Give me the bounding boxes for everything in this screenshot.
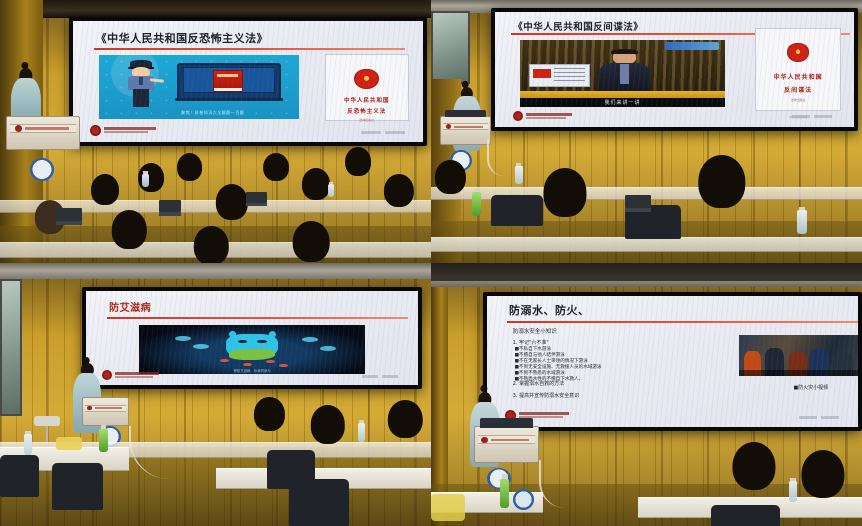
projector	[34, 416, 60, 427]
book-title-line1: 中华人民共和国	[774, 72, 823, 81]
audience-head	[733, 442, 776, 490]
slogan-part-1	[361, 131, 381, 134]
beverage-bottle	[500, 479, 509, 508]
slogan-part-2	[382, 375, 398, 378]
bullet-list: ■不私自下水游泳 ■不擅自与他人结伴游泳 ■不在无家长人士带领的情况下游泳 ■不…	[515, 347, 602, 384]
beverage-bottle	[472, 192, 481, 216]
university-seal-icon	[102, 370, 112, 380]
slide-surface: 防艾滋病	[86, 291, 418, 386]
book-subtitle: 法律出版社	[791, 98, 806, 102]
list-section-1: 1. 牢记"六不准"	[513, 339, 549, 346]
slide-video-frame: 我们来讲一讲	[520, 40, 724, 107]
book-cover-card: 中华人民共和国 反间谍法 法律出版社 中国法制出版社	[755, 28, 841, 111]
university-name-cn	[104, 127, 156, 130]
university-name-en	[115, 376, 153, 378]
video-label: ■防火灾小视频	[794, 384, 829, 391]
student-laptop	[56, 208, 82, 221]
slide-title: 防溺水、防火、	[509, 302, 590, 318]
red-cell	[266, 360, 275, 363]
insert-card-text-lines	[554, 68, 585, 81]
audience-head	[384, 174, 414, 208]
university-name-cn	[519, 412, 569, 415]
red-cell	[243, 363, 252, 366]
video-speaker-head	[613, 50, 636, 63]
wall-crest-emblem	[30, 158, 54, 182]
yellow-bag	[56, 437, 82, 450]
bottle-cap	[143, 171, 147, 173]
collage-panel-bottom-right: 防溺水、防火、 防溺水安全小知识 1. 牢记"六不准" ■不私自下水游泳 ■不擅…	[431, 263, 862, 526]
slide-footer-slogan	[792, 115, 832, 118]
national-emblem-icon	[787, 43, 810, 62]
university-name-cn	[526, 113, 572, 116]
red-cell	[279, 364, 288, 367]
university-name-en	[526, 117, 566, 119]
led-screen: 《中华人民共和国反间谍法》 我们来讲一讲	[491, 8, 857, 132]
slide-title: 《中华人民共和国反间谍法》	[513, 19, 643, 33]
slogan-part-2	[821, 416, 839, 419]
officer-tie	[139, 77, 142, 86]
thumbnail-caption-bar	[739, 370, 858, 376]
audience-head	[543, 168, 586, 216]
university-name-block	[104, 127, 156, 133]
podium	[440, 116, 492, 145]
photo-collage: 《中华人民共和国反恐怖主义法》	[0, 0, 862, 526]
room-window	[0, 279, 22, 416]
list-section-3: 3. 提高并宣传防溺水安全意识	[513, 392, 579, 399]
audience-head	[263, 153, 289, 182]
slide-footer-slogan	[362, 375, 398, 378]
book-cover-card: 中华人民共和国 反恐怖主义法 法律出版社 中国法制出版社	[325, 54, 409, 122]
podium-seal-icon	[481, 437, 487, 443]
podium-name-text	[491, 439, 529, 442]
university-name-block	[115, 372, 159, 378]
title-underline	[507, 321, 858, 323]
bottle-cap	[799, 207, 805, 211]
germ-particle	[302, 337, 318, 342]
desk-row-front	[431, 237, 862, 253]
audience-head	[435, 160, 465, 194]
podium-name-text	[95, 407, 122, 409]
podium-seal-icon	[87, 406, 92, 411]
list-item: ■不在无家长人士带领的情况下游泳	[515, 359, 602, 365]
student-laptop	[246, 192, 268, 203]
slide-footer-slogan	[799, 416, 839, 419]
audience-head	[302, 168, 330, 199]
water-bottle	[142, 174, 149, 187]
podium-laptop	[445, 110, 487, 118]
slide-subhead: 防溺水安全小知识	[513, 327, 557, 335]
ceiling	[0, 263, 431, 279]
national-emblem-icon	[354, 69, 379, 89]
bottle-cap	[516, 163, 521, 166]
podium-name-text	[454, 126, 484, 128]
slogan-part-2	[814, 115, 832, 118]
germ-particle	[175, 336, 191, 341]
bottle-cap	[474, 188, 480, 192]
title-underline	[107, 317, 408, 319]
laptop-base	[175, 98, 283, 101]
chair	[711, 505, 780, 526]
audience-head	[802, 450, 845, 498]
list-item: ■不到无安全设施、无救援人员的水域游泳	[515, 365, 602, 371]
chair	[52, 463, 104, 510]
book-subtitle: 法律出版社	[359, 118, 374, 122]
slide-footer-logo	[513, 111, 572, 121]
audience-head	[194, 226, 228, 263]
podium	[6, 116, 79, 150]
university-name-cn	[115, 372, 159, 375]
led-screen: 《中华人民共和国反恐怖主义法》	[69, 17, 427, 146]
slide-video-thumbnail	[739, 335, 858, 376]
red-cell	[220, 359, 229, 362]
slide-surface: 《中华人民共和国反恐怖主义法》	[73, 21, 423, 142]
laptop-graphic	[177, 63, 281, 100]
podium-seal-icon	[446, 124, 451, 129]
slide-title: 《中华人民共和国反恐怖主义法》	[96, 30, 269, 46]
slide-footer-logo	[102, 370, 159, 380]
slogan-part-1	[362, 375, 378, 378]
virus-illustration-icon	[216, 331, 288, 361]
student-laptop	[159, 200, 181, 212]
university-seal-icon	[513, 111, 523, 121]
audience-head	[345, 147, 371, 176]
led-screen: 防溺水、防火、 防溺水安全小知识 1. 牢记"六不准" ■不私自下水游泳 ■不擅…	[483, 292, 862, 431]
illustration-caption: 聚焦！科普知识大全解题一百题	[147, 110, 279, 116]
water-bottle	[358, 423, 366, 441]
slide-surface: 防溺水、防火、 防溺水安全小知识 1. 牢记"六不准" ■不私自下水游泳 ■不擅…	[487, 296, 858, 427]
audience-head	[216, 184, 248, 220]
law-book-graphic	[213, 70, 243, 92]
beverage-bottle	[99, 429, 108, 453]
slide-surface: 《中华人民共和国反间谍法》 我们来讲一讲	[495, 12, 853, 128]
audience-head	[177, 153, 203, 182]
slide-title: 防艾滋病	[109, 299, 151, 314]
book-title-line2: 反间谍法	[784, 85, 812, 94]
slogan-part-1	[799, 416, 817, 419]
podium	[474, 426, 539, 463]
university-seal-icon	[90, 125, 101, 136]
list-item: ■不擅自与他人结伴游泳	[515, 353, 602, 359]
slide-graphic: 预防艾滋病，你我同参与	[139, 325, 365, 374]
chair	[0, 455, 39, 497]
broadcast-logo-icon	[665, 42, 718, 50]
title-underline	[94, 48, 405, 50]
slide-illustration: 聚焦！科普知识大全解题一百题	[99, 55, 298, 119]
audience-head	[293, 221, 330, 262]
video-caption: 我们来讲一讲	[520, 98, 724, 107]
podium	[82, 397, 129, 426]
collage-panel-bottom-left: 防艾滋病	[0, 263, 431, 526]
slogan-part-2	[385, 131, 405, 134]
virus-eye	[257, 340, 266, 343]
video-speaker-figure	[598, 50, 651, 94]
water-bottle	[515, 166, 523, 184]
audience-head	[388, 400, 422, 439]
collage-panel-top-left: 《中华人民共和国反恐怖主义法》	[0, 0, 431, 263]
university-name-block	[526, 113, 572, 119]
yellow-bag	[431, 494, 465, 520]
student-laptop	[625, 195, 651, 208]
graphic-caption: 预防艾滋病，你我同参与	[184, 368, 320, 373]
podium-nameplate	[478, 435, 536, 444]
water-bottle	[797, 210, 806, 234]
police-officer-cartoon-icon	[125, 60, 157, 107]
chair	[289, 479, 349, 526]
officer-legs	[133, 89, 148, 107]
university-name-en	[104, 131, 148, 133]
list-section-2: 2. 掌握溺水自救的方法	[513, 380, 564, 387]
germ-particle	[320, 346, 336, 351]
room-window	[431, 11, 470, 85]
podium-nameplate	[443, 123, 489, 130]
video-insert-card	[529, 64, 590, 87]
bottle-cap	[329, 182, 333, 184]
bottle-cap	[502, 474, 508, 479]
bottle-cap	[790, 478, 796, 481]
water-bottle	[24, 434, 33, 455]
virus-map-overlay	[229, 349, 275, 359]
bottle-cap	[25, 431, 31, 434]
podium-laptop	[480, 418, 533, 428]
bottle-cap	[359, 420, 364, 423]
podium-nameplate	[10, 124, 76, 132]
audience-head	[254, 397, 284, 431]
bottle-cap	[101, 425, 107, 429]
audience-head	[91, 174, 119, 205]
list-item: ■不到不熟悉的水域游泳	[515, 371, 602, 377]
chair	[491, 195, 543, 227]
slide-footer-slogan	[361, 131, 405, 134]
audience-head	[112, 210, 146, 249]
podium-seal-icon	[15, 125, 22, 132]
book-title-line1: 中华人民共和国	[344, 96, 390, 104]
audience-head	[310, 405, 344, 444]
slide-footer-logo	[90, 125, 156, 136]
book-title-line2: 反恐怖主义法	[347, 107, 386, 115]
upper-photo-edge	[431, 263, 862, 281]
virus-eye	[238, 340, 247, 343]
podium-nameplate	[85, 405, 127, 412]
flag-icon	[533, 69, 551, 79]
list-item: ■不私自下水游泳	[515, 347, 602, 353]
collage-panel-top-right: 《中华人民共和国反间谍法》 我们来讲一讲	[431, 0, 862, 263]
audience-head	[698, 155, 745, 208]
slogan-part-1	[792, 115, 810, 118]
led-screen: 防艾滋病	[82, 287, 422, 390]
water-bottle	[789, 481, 798, 502]
germ-particle	[193, 344, 209, 349]
podium-name-text	[25, 127, 69, 129]
water-bottle	[328, 184, 335, 197]
ceiling	[0, 0, 431, 18]
